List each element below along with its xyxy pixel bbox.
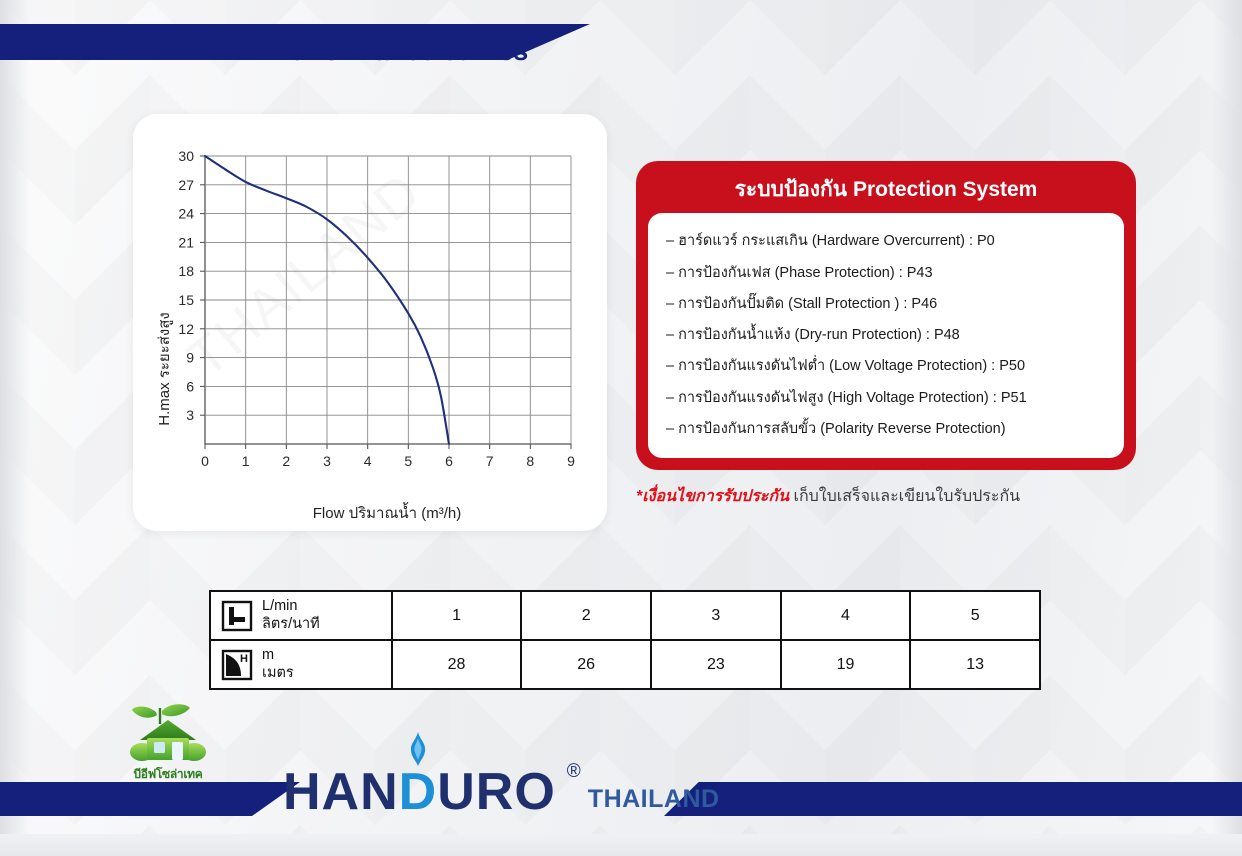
table-cell: 26 (521, 640, 651, 689)
brand-text-part1: HAN (283, 763, 399, 821)
svg-text:4: 4 (364, 453, 372, 469)
chart-x-ticks: 0123456789 (201, 444, 575, 469)
header-accent-line (238, 24, 558, 28)
svg-text:6: 6 (186, 378, 194, 394)
brand-letter-d: D (399, 763, 438, 821)
svg-text:0: 0 (201, 453, 209, 469)
table-cell: 28 (392, 640, 522, 689)
chart-x-axis-label: Flow ปริมาณน้ำ (m³/h) (313, 502, 461, 522)
protection-items-list: – ฮาร์ดแวร์ กระแสเกิน (Hardware Overcurr… (648, 213, 1124, 458)
eco-house-icon (130, 702, 206, 764)
performance-chart-card: THAILAND 0123456789 36912151821242730 Fl… (133, 114, 607, 531)
svg-text:3: 3 (323, 453, 331, 469)
registered-trademark-icon: ® (567, 762, 582, 781)
svg-text:9: 9 (567, 453, 575, 469)
page-title: Performance curves (272, 36, 528, 67)
background-edge-right (1212, 0, 1242, 856)
protection-item: – การป้องกันปั๊มติด (Stall Protection ) … (666, 296, 1106, 313)
performance-chart: 0123456789 36912151821242730 Flow ปริมาณ… (133, 114, 607, 531)
table-cell: 13 (910, 640, 1040, 689)
svg-text:24: 24 (178, 206, 194, 222)
eco-logo-label: บีอีฟโซล่าเทค (112, 765, 224, 784)
footer-bottom-strip (0, 834, 1242, 856)
protection-panel-title: ระบบป้องกัน Protection System (636, 173, 1136, 206)
protection-item: – การป้องกันแรงดันไฟสูง (High Voltage Pr… (666, 390, 1106, 407)
head-icon: H (221, 649, 253, 681)
svg-text:21: 21 (178, 234, 194, 250)
warranty-rest: เก็บใบเสร็จและเขียนใบรับประกัน (789, 488, 1020, 505)
table-cell: 23 (651, 640, 781, 689)
table-cell: 5 (910, 591, 1040, 640)
svg-text:18: 18 (178, 263, 194, 279)
brand-text-part2: URO (437, 763, 556, 821)
footer-accent-bar-left (0, 782, 300, 816)
chart-grid (205, 156, 571, 444)
table-row-label-cell: Hmเมตร (210, 640, 392, 689)
table-cell: 19 (781, 640, 911, 689)
svg-text:8: 8 (526, 453, 534, 469)
brand-text-d: D (399, 766, 438, 818)
protection-item: – การป้องกันน้ำแห้ง (Dry-run Protection)… (666, 327, 1106, 344)
protection-item: – การป้องกันแรงดันไฟต่ำ (Low Voltage Pro… (666, 358, 1106, 375)
brand-wordmark: HAN D URO ® (283, 766, 556, 818)
specification-table: L/minลิตร/นาที12345Hmเมตร2826231913 (209, 590, 1041, 690)
protection-item: – การป้องกันการสลับขั้ว (Polarity Revers… (666, 421, 1106, 438)
warranty-note: *เงื่อนไขการรับประกัน เก็บใบเสร็จและเขีย… (636, 484, 1156, 509)
svg-text:27: 27 (178, 177, 194, 193)
svg-text:12: 12 (178, 321, 194, 337)
svg-text:H: H (240, 653, 248, 665)
page-header: Performance curves (0, 0, 1242, 96)
table-row: Hmเมตร2826231913 (210, 640, 1040, 689)
flame-icon (407, 732, 429, 766)
unit-en: m (262, 647, 294, 664)
table-cell: 1 (392, 591, 522, 640)
protection-item: – การป้องกันเฟส (Phase Protection) : P43 (666, 265, 1106, 282)
table-row-label-cell: L/minลิตร/นาที (210, 591, 392, 640)
table-cell: 2 (521, 591, 651, 640)
table-row: L/minลิตร/นาที12345 (210, 591, 1040, 640)
chart-y-axis-label: H.max ระยะส่งสูง (156, 312, 173, 425)
background-edge-left (0, 0, 30, 856)
svg-text:7: 7 (486, 453, 494, 469)
brand-logo: HAN D URO ® THAILAND (283, 766, 720, 818)
footer-accent-bar-right (664, 782, 1242, 816)
svg-text:9: 9 (186, 350, 194, 366)
table-cell: 4 (781, 591, 911, 640)
chart-y-ticks: 36912151821242730 (178, 148, 205, 423)
svg-text:1: 1 (242, 453, 250, 469)
eco-partner-logo: บีอีฟโซล่าเทค (112, 702, 224, 784)
svg-text:6: 6 (445, 453, 453, 469)
protection-system-panel: ระบบป้องกัน Protection System – ฮาร์ดแวร… (636, 161, 1136, 470)
unit-en: L/min (262, 598, 320, 615)
brand-country-label: THAILAND (588, 785, 720, 818)
warranty-highlight: *เงื่อนไขการรับประกัน (636, 488, 789, 505)
svg-text:3: 3 (186, 407, 194, 423)
svg-text:30: 30 (178, 148, 194, 164)
unit-th: ลิตร/นาที (262, 616, 320, 633)
svg-text:15: 15 (178, 292, 194, 308)
svg-text:5: 5 (404, 453, 412, 469)
unit-th: เมตร (262, 665, 294, 682)
flow-icon (221, 600, 253, 632)
protection-item: – ฮาร์ดแวร์ กระแสเกิน (Hardware Overcurr… (666, 233, 1106, 250)
table-cell: 3 (651, 591, 781, 640)
svg-text:2: 2 (282, 453, 290, 469)
page-footer: บีอีฟโซล่าเทค HAN D URO ® THAILAND (0, 746, 1242, 856)
